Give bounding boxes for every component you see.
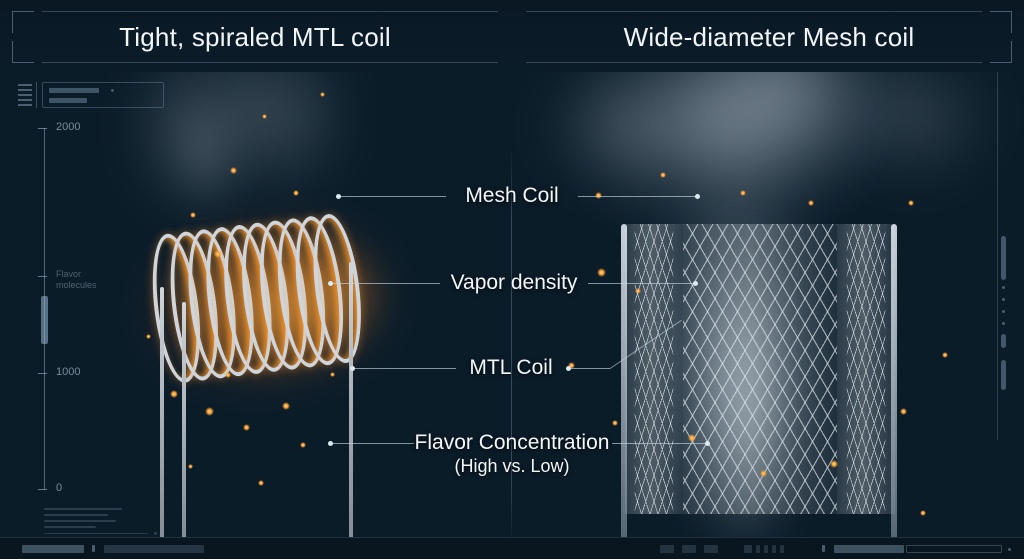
axis-tick-label: 0 [56, 482, 62, 494]
footer-progress[interactable] [22, 545, 84, 553]
menu-icon[interactable] [18, 84, 32, 106]
header-frame-right: Wide-diameter Mesh coil [526, 11, 1012, 63]
hud-overlay: 2000 Flavor molecules 1000 0 [0, 0, 1024, 559]
footer-slider[interactable] [834, 545, 904, 553]
footer-label [104, 545, 204, 553]
axis-tick [38, 276, 47, 277]
axis-tick [38, 373, 47, 374]
header-title-right: Wide-diameter Mesh coil [526, 11, 1012, 63]
scroll-marker[interactable] [1001, 360, 1006, 390]
axis-note: Flavor molecules [56, 269, 97, 291]
axis-tick [38, 489, 47, 490]
hud-info-panel [42, 82, 164, 108]
diagram-canvas: Mesh Coil Vapor density MTL Coil Flavor … [0, 0, 1024, 559]
axis-tick-label: 1000 [56, 366, 80, 378]
axis-tick-label: 2000 [56, 121, 80, 133]
header-title-left: Tight, spiraled MTL coil [12, 11, 498, 63]
footer-slider-track[interactable] [906, 545, 1002, 553]
axis-tick [38, 128, 47, 129]
header-frame-left: Tight, spiraled MTL coil [12, 11, 498, 63]
header-bar: Tight, spiraled MTL coil Wide-diameter M… [0, 0, 1024, 72]
hud-rail-line [997, 40, 998, 440]
footer-bar [0, 537, 1024, 559]
axis-slider-handle[interactable] [41, 296, 48, 344]
scroll-handle[interactable] [1001, 236, 1006, 280]
scroll-marker[interactable] [1001, 334, 1006, 348]
hud-divider [36, 82, 37, 108]
